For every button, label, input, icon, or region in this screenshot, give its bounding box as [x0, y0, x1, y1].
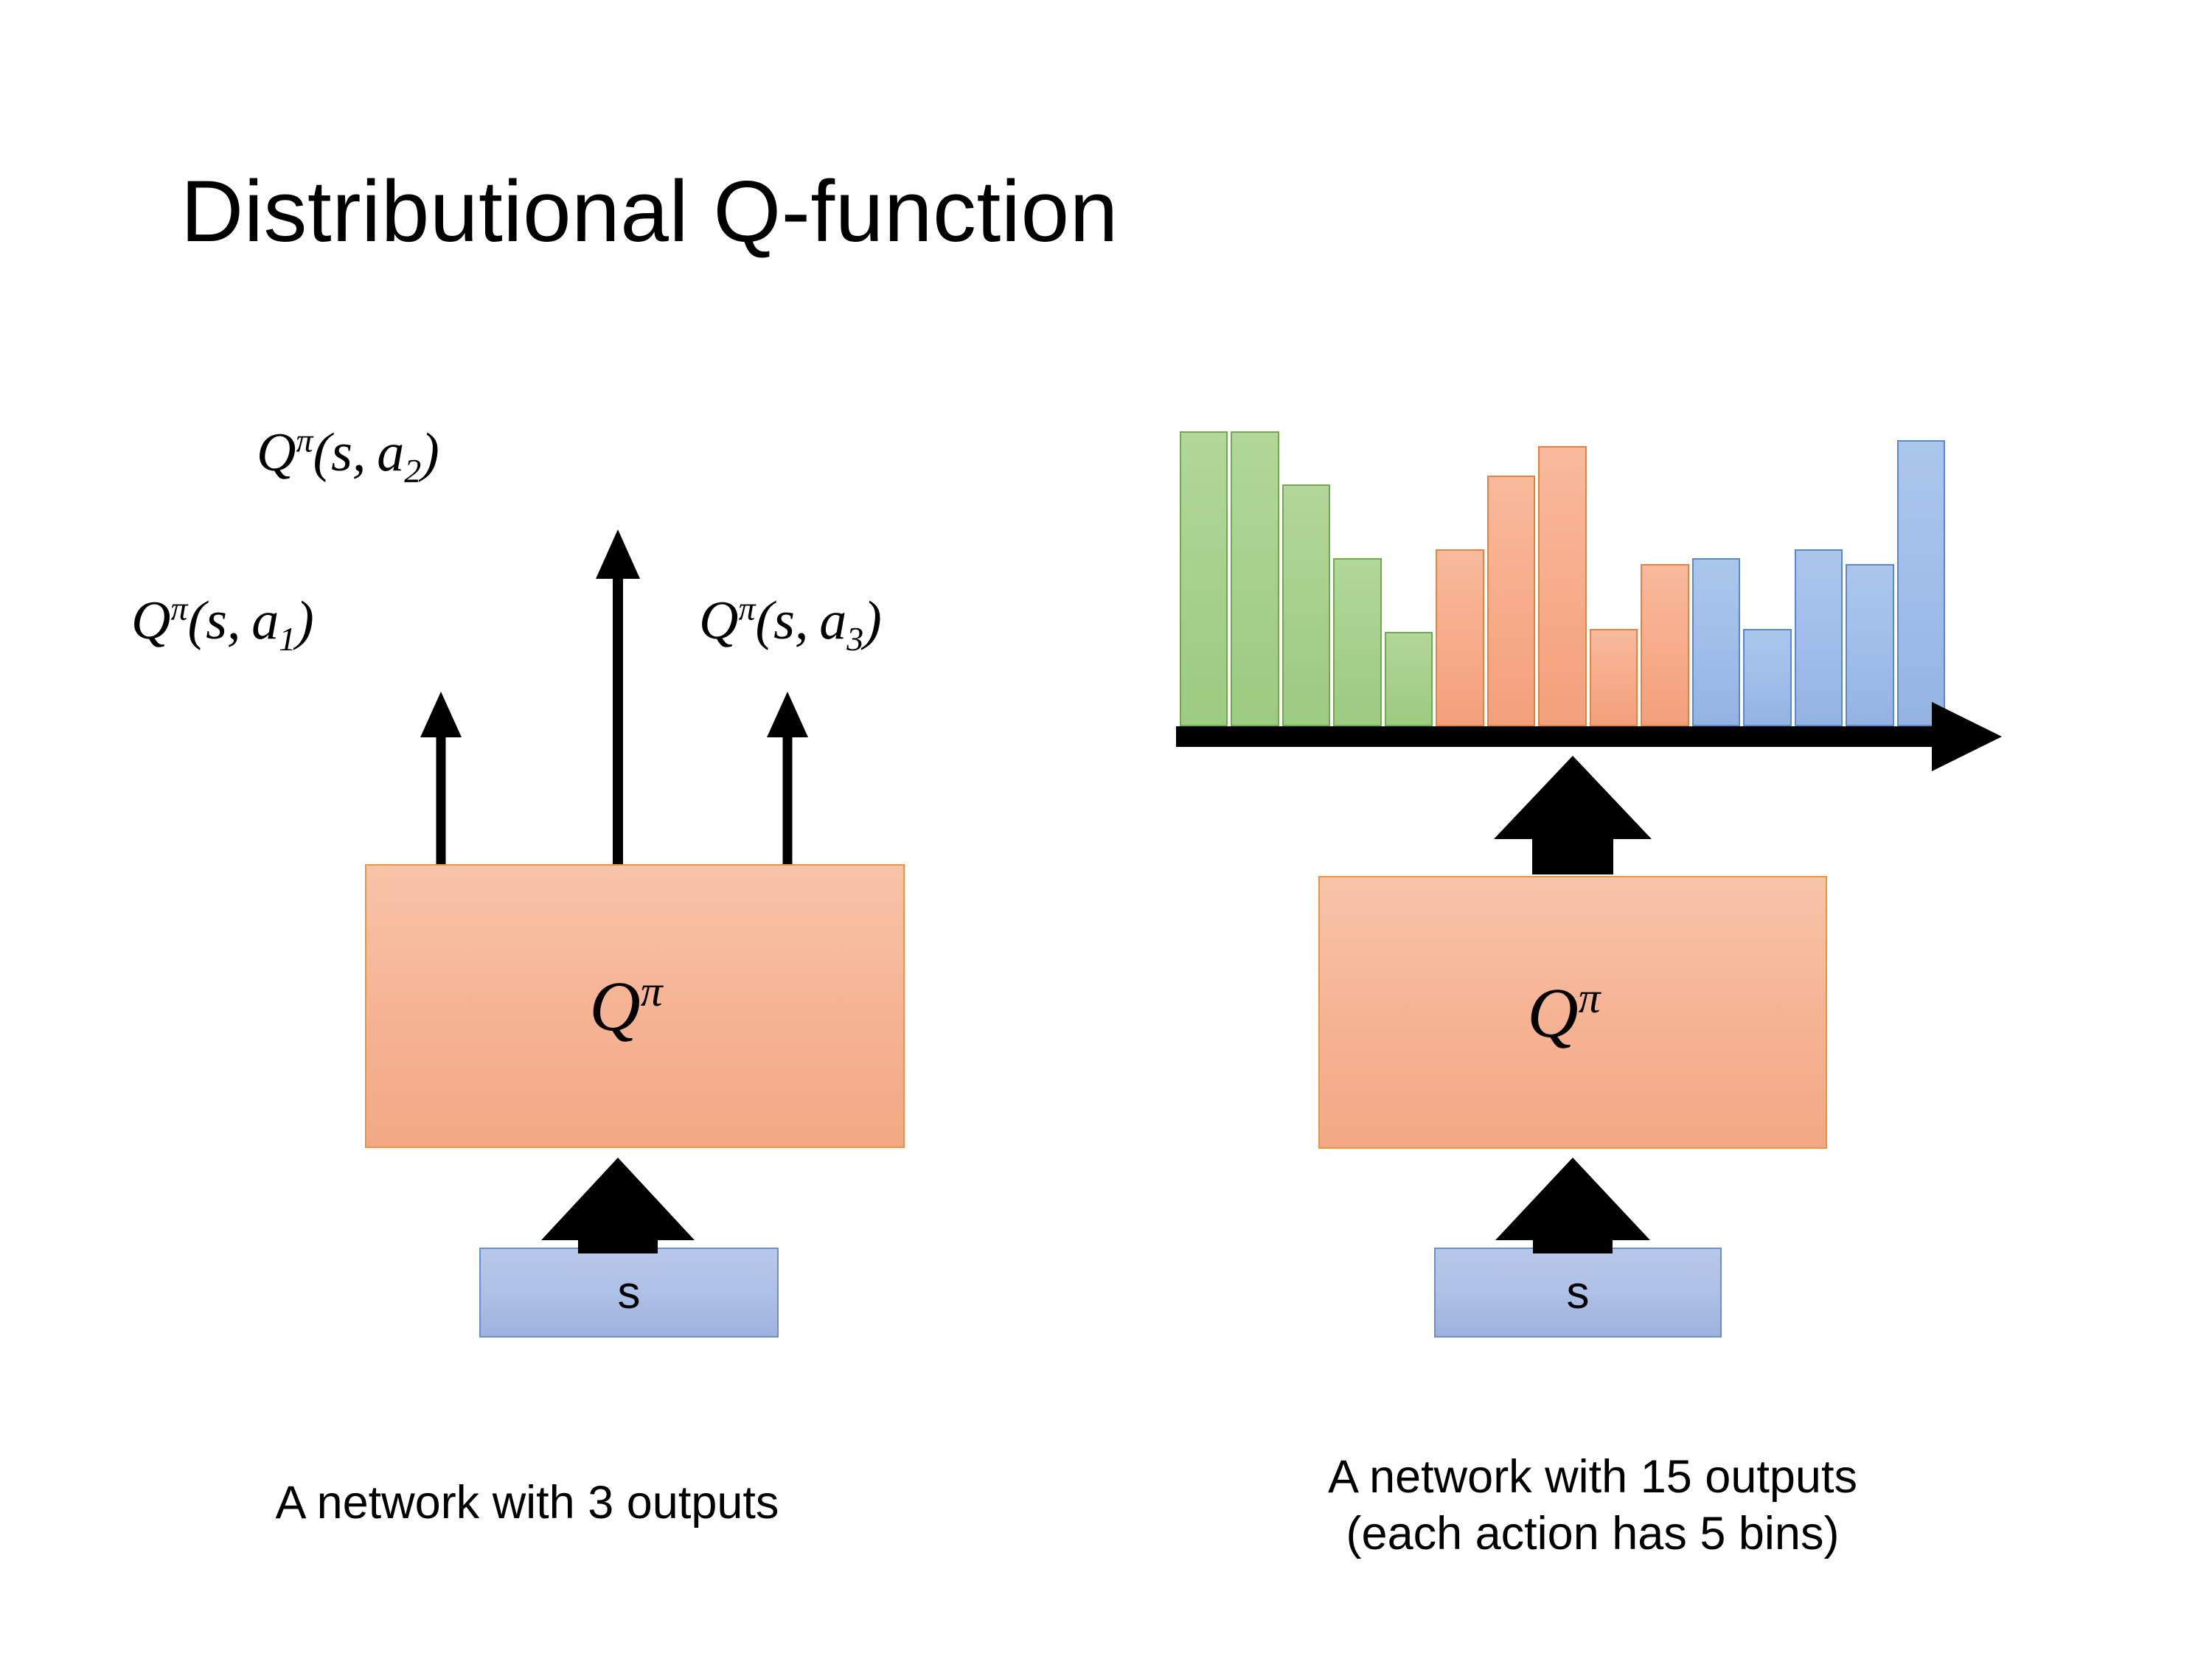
left-output-arrow-a3	[767, 692, 808, 864]
output-label-a3: Qπ(s, a3)	[699, 590, 882, 653]
output-label-a3-text: Qπ(s, a3)	[699, 591, 882, 651]
histogram-bar	[1436, 549, 1484, 726]
histogram-bar	[1538, 446, 1586, 726]
right-output-block-arrow	[1494, 756, 1652, 874]
pi-symbol: π	[1579, 973, 1601, 1022]
left-output-arrow-a1	[420, 692, 462, 864]
left-state-label: s	[618, 1267, 641, 1319]
histogram-bar	[1180, 431, 1228, 726]
right-input-block-arrow	[1495, 1158, 1650, 1253]
distribution-histogram	[1180, 431, 1945, 726]
histogram-bar	[1692, 558, 1740, 726]
histogram-bar	[1846, 564, 1893, 726]
right-q-function-box[interactable]: Qπ	[1318, 876, 1827, 1149]
output-label-a1-text: Qπ(s, a1)	[131, 591, 314, 651]
left-state-box[interactable]: s	[479, 1248, 779, 1338]
left-input-block-arrow	[541, 1158, 695, 1253]
q-symbol: Q	[1527, 973, 1578, 1052]
left-output-arrow-a2	[596, 529, 640, 864]
histogram-bar	[1743, 629, 1791, 726]
output-label-a1: Qπ(s, a1)	[131, 590, 314, 653]
pi-symbol: π	[641, 967, 663, 1015]
histogram-bar	[1641, 564, 1688, 726]
histogram-bar	[1795, 549, 1843, 726]
histogram-bar	[1590, 629, 1638, 726]
right-state-box[interactable]: s	[1434, 1248, 1722, 1338]
histogram-bar	[1897, 440, 1945, 726]
left-caption: A network with 3 outputs	[133, 1475, 922, 1531]
right-state-label: s	[1567, 1267, 1590, 1319]
output-label-a2: Qπ(s, a2)	[257, 422, 439, 484]
histogram-bar	[1385, 632, 1433, 726]
left-q-function-label: Qπ	[589, 965, 662, 1047]
right-caption: A network with 15 outputs (each action h…	[1158, 1449, 2028, 1562]
right-q-function-label: Qπ	[1527, 972, 1600, 1054]
output-label-a2-text: Qπ(s, a2)	[257, 422, 439, 483]
histogram-bar	[1487, 476, 1535, 726]
q-symbol: Q	[589, 967, 640, 1046]
left-q-function-box[interactable]: Qπ	[365, 864, 905, 1148]
histogram-bar	[1231, 431, 1279, 726]
histogram-bar	[1333, 558, 1381, 726]
page-title: Distributional Q-function	[181, 168, 1119, 255]
histogram-bar	[1282, 484, 1330, 726]
